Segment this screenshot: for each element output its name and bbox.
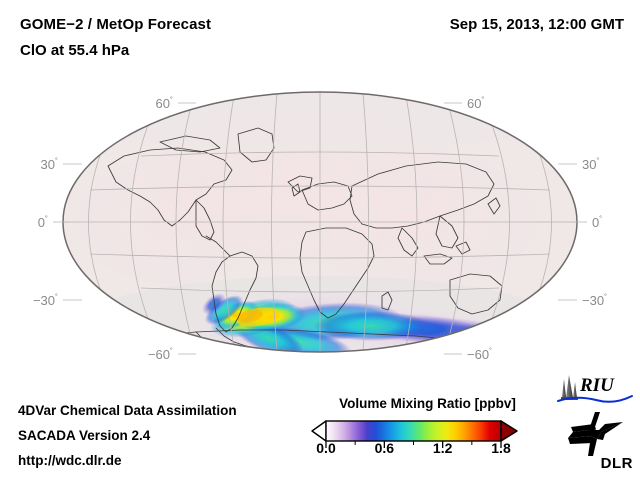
colorbar-tick-labels: 0.0 0.6 1.2 1.8: [305, 440, 550, 460]
lat-label-60n-left: 60˚: [156, 96, 173, 111]
lat-label-60n-right: 60˚: [467, 96, 484, 111]
page-subtitle: ClO at 55.4 hPa: [20, 42, 129, 59]
colorbar-tick-3: 1.8: [491, 440, 510, 456]
lat-label-30n-left: 30˚: [41, 157, 58, 172]
forecast-datetime: Sep 15, 2013, 12:00 GMT: [450, 16, 624, 33]
lat-label-0-right: 0˚: [592, 215, 602, 230]
riu-wordmark: RIU: [579, 375, 615, 396]
lat-label-60s-right: −60˚: [467, 347, 492, 362]
colorbar-extend-low-arrow: [312, 421, 326, 441]
world-map: 60˚ 60˚ 30˚ 30˚ 0˚ 0˚ −30˚ −30˚ −60˚ −60…: [0, 70, 640, 380]
colorbar-tick-1: 0.6: [375, 440, 394, 456]
lat-label-0-left: 0˚: [38, 215, 48, 230]
dlr-mark-icon: [561, 410, 635, 458]
colorbar: Volume Mixing Ratio [ppbv]: [305, 396, 550, 472]
lat-label-60s-left: −60˚: [148, 347, 173, 362]
map-globe: [50, 70, 577, 380]
dlr-wordmark: DLR: [601, 455, 633, 472]
page-title: GOME−2 / MetOp Forecast: [20, 16, 211, 33]
riu-logo: RIU: [556, 373, 634, 407]
colorbar-tick-2: 1.2: [433, 440, 452, 456]
colorbar-gradient: [326, 421, 501, 441]
footer-line-url[interactable]: http://wdc.dlr.de: [18, 453, 122, 468]
lat-label-30s-left: −30˚: [33, 293, 58, 308]
lat-label-30n-right: 30˚: [582, 157, 599, 172]
footer-line-method: 4DVar Chemical Data Assimilation: [18, 403, 237, 418]
footer-line-version: SACADA Version 2.4: [18, 428, 150, 443]
colorbar-title: Volume Mixing Ratio [ppbv]: [305, 396, 550, 411]
dlr-logo: DLR: [561, 410, 635, 472]
lat-label-30s-right: −30˚: [582, 293, 607, 308]
riu-tower-icon: [561, 375, 578, 400]
colorbar-tick-0: 0.0: [316, 440, 335, 456]
colorbar-extend-high-arrow: [501, 421, 517, 441]
